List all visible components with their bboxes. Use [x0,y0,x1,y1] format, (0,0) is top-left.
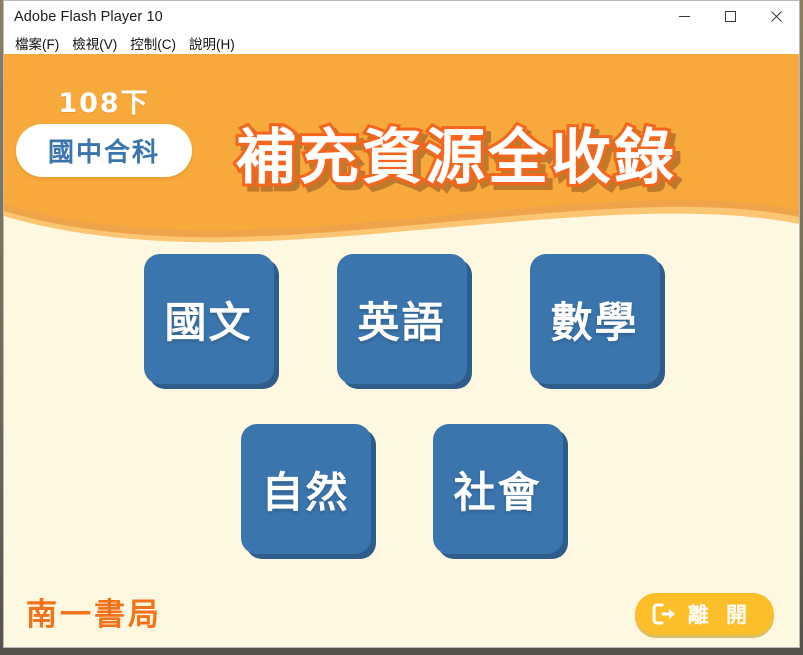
subject-label: 自然 [261,459,349,520]
badge-year-label: 108下 [4,90,204,117]
subject-button-english[interactable]: 英語 [337,254,467,384]
menu-bar: 檔案(F) 檢視(V) 控制(C) 說明(H) [4,32,799,54]
subject-button-science[interactable]: 自然 [241,424,371,554]
subject-grid: 國文 英語 數學 自然 社會 [4,254,799,554]
menu-item-view[interactable]: 檢視(V) [69,33,127,53]
window-title-bar[interactable]: Adobe Flash Player 10 [4,1,799,32]
close-icon [771,11,782,22]
badge-pill-label: 國中合科 [48,132,160,169]
publisher-logo: 南一書局 [26,589,162,634]
window-title: Adobe Flash Player 10 [4,9,163,25]
subject-button-math[interactable]: 數學 [530,254,660,384]
subject-label: 數學 [550,289,638,350]
subject-button-social[interactable]: 社會 [433,424,563,554]
minimize-icon [679,11,690,22]
maximize-icon [725,11,736,22]
exit-button-label: 離 開 [688,599,752,629]
exit-button[interactable]: 離 開 [635,593,774,635]
exit-arrow-icon [651,602,677,626]
page-title: 補充資源全收錄 [236,128,677,188]
subject-label: 國文 [164,289,252,350]
minimize-button[interactable] [661,1,707,32]
subject-row-1: 國文 英語 數學 [4,254,799,384]
screen: Adobe Flash Player 10 [0,0,803,655]
maximize-button[interactable] [707,1,753,32]
flash-player-window: Adobe Flash Player 10 [3,0,800,648]
menu-item-file[interactable]: 檔案(F) [12,33,69,53]
window-controls [661,1,799,32]
close-button[interactable] [753,1,799,32]
badge-pill: 國中合科 [16,124,192,177]
menu-item-help[interactable]: 說明(H) [186,33,245,53]
subject-row-2: 自然 社會 [4,424,799,554]
subject-button-chinese[interactable]: 國文 [144,254,274,384]
edition-badge: 108下 國中合科 [4,90,204,177]
menu-item-control[interactable]: 控制(C) [127,33,186,53]
subject-label: 社會 [453,459,541,520]
subject-label: 英語 [357,289,445,350]
flash-stage: 108下 國中合科 補充資源全收錄 國文 英語 數學 [4,54,799,647]
